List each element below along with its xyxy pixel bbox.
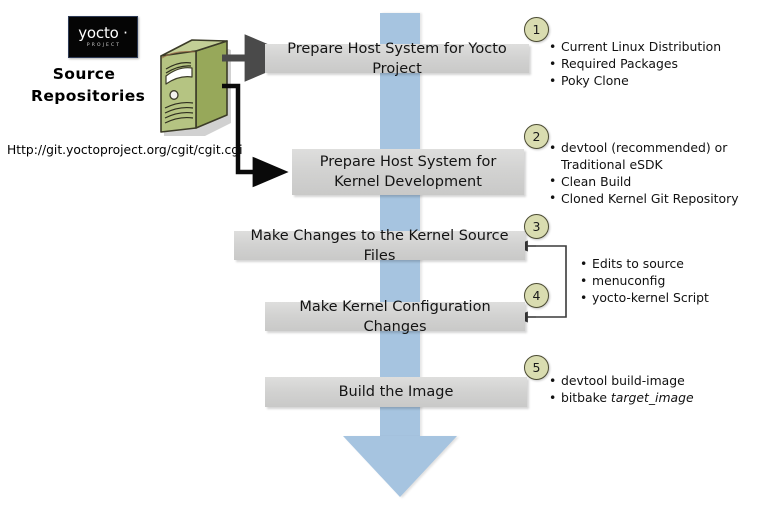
list-item: menuconfig	[580, 273, 709, 290]
yocto-logo-wordmark: yocto ·	[78, 26, 128, 41]
step-2-bullet-list: devtool (recommended) or Traditional eSD…	[549, 140, 729, 208]
list-item: Cloned Kernel Git Repository	[549, 191, 729, 208]
step-2-number-badge: 2	[524, 124, 549, 149]
list-item: Edits to source	[580, 256, 709, 273]
yocto-logo-subtext: PROJECT	[87, 42, 121, 49]
step-4-box[interactable]: Make Kernel Configuration Changes	[265, 302, 525, 331]
list-item: Required Packages	[549, 56, 721, 73]
server-tower-icon	[139, 33, 231, 140]
step-1-box[interactable]: Prepare Host System for Yocto Project	[265, 44, 529, 73]
source-label-line1: Source	[31, 63, 137, 85]
source-repositories-label: Source Repositories	[31, 63, 137, 107]
diagram-canvas: yocto · PROJECT	[0, 0, 769, 517]
step-4-number-badge: 4	[524, 283, 549, 308]
list-item: Poky Clone	[549, 73, 721, 90]
list-item: devtool build-image	[549, 373, 694, 390]
list-item: bitbake target_image	[549, 390, 694, 407]
source-repository-url: Http://git.yoctoproject.org/cgit/cgit.cg…	[7, 143, 243, 157]
list-item: devtool (recommended) or Traditional eSD…	[549, 140, 729, 173]
step-2-box[interactable]: Prepare Host System for Kernel Developme…	[292, 149, 524, 195]
list-item: Current Linux Distribution	[549, 39, 721, 56]
step-3-box[interactable]: Make Changes to the Kernel Source Files	[234, 231, 525, 260]
steps-3-4-shared-bullet-list: Edits to source menuconfig yocto-kernel …	[580, 256, 709, 307]
list-item: Clean Build	[549, 174, 729, 191]
step-5-number-badge: 5	[524, 355, 549, 380]
step-1-number-badge: 1	[524, 17, 549, 42]
step-3-number-badge: 3	[524, 214, 549, 239]
step-1-bullet-list: Current Linux Distribution Required Pack…	[549, 39, 721, 90]
list-item: yocto-kernel Script	[580, 290, 709, 307]
bitbake-command-prefix: bitbake	[561, 390, 611, 405]
bitbake-target-image-arg: target_image	[611, 390, 694, 405]
step-5-box[interactable]: Build the Image	[265, 377, 527, 407]
source-label-line2: Repositories	[31, 85, 137, 107]
main-flow-arrow-head	[343, 436, 457, 497]
yocto-project-logo: yocto · PROJECT	[68, 16, 138, 58]
step-5-bullet-list: devtool build-image bitbake target_image	[549, 373, 694, 407]
